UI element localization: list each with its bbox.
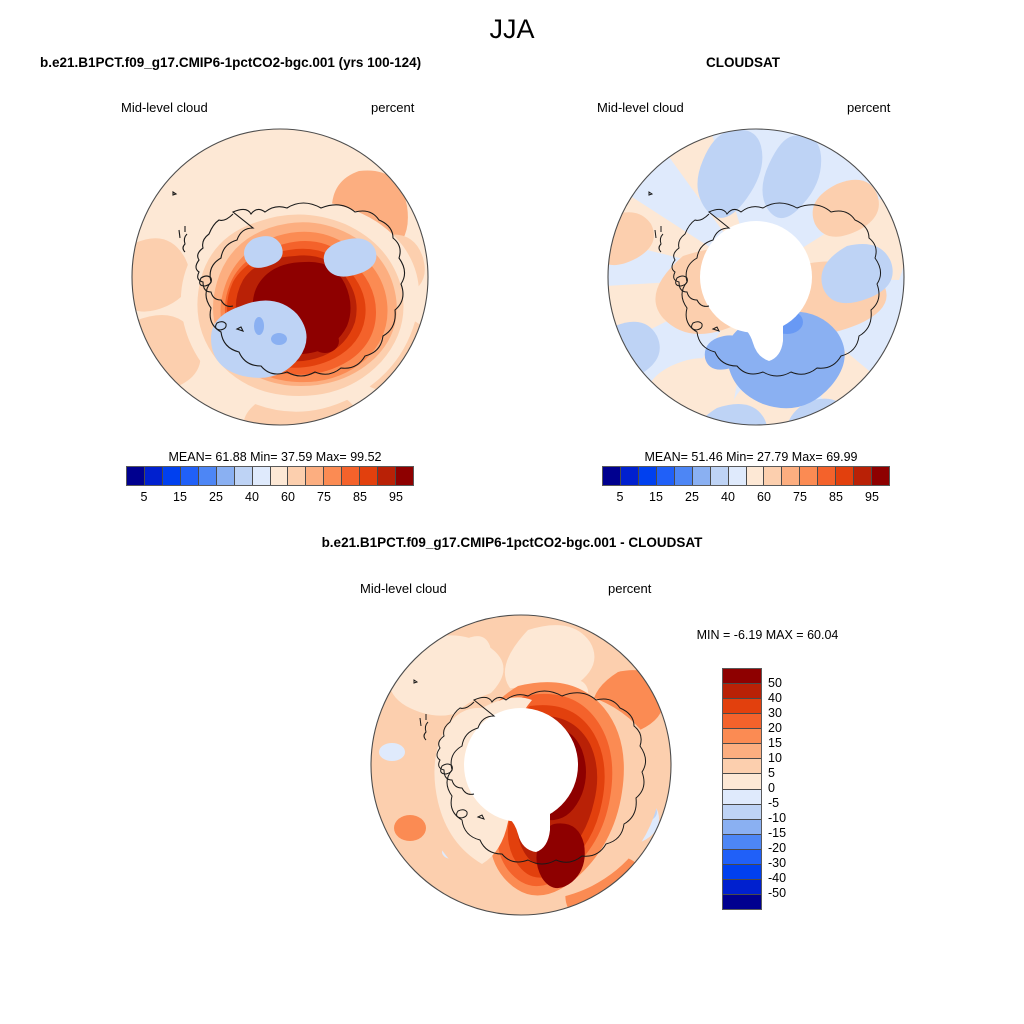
colorbar-cell: [723, 729, 761, 744]
obs-map-svg: [605, 126, 907, 428]
colorbar-cell: [324, 467, 342, 485]
diff-stats-line: MIN = -6.19 MAX = 60.04: [660, 628, 875, 642]
colorbar-cell: [711, 467, 729, 485]
obs-stats-line: MEAN= 51.46 Min= 27.79 Max= 69.99: [591, 450, 911, 464]
colorbar-cell: [723, 714, 761, 729]
colorbar-cell: [657, 467, 675, 485]
colorbar-tick-label: -30: [768, 856, 786, 870]
colorbar-cell: [639, 467, 657, 485]
colorbar-tick-label: -50: [768, 886, 786, 900]
diff-map-svg: [368, 612, 674, 918]
colorbar-tick-label: 15: [649, 490, 663, 504]
colorbar-tick-label: 10: [768, 751, 782, 765]
colorbar-tick-label: 25: [209, 490, 223, 504]
colorbar-cell: [396, 467, 413, 485]
model-map-svg: [129, 126, 431, 428]
model-colorbar-tick-labels: 515254060758595: [126, 490, 414, 508]
colorbar-cell: [747, 467, 765, 485]
obs-variable-label: Mid-level cloud: [597, 100, 684, 115]
diff-units-label: percent: [608, 581, 651, 596]
colorbar-cell: [723, 744, 761, 759]
colorbar-cell: [872, 467, 889, 485]
colorbar-tick-label: 25: [685, 490, 699, 504]
colorbar-tick-label: 15: [173, 490, 187, 504]
obs-colorbar-cells[interactable]: [602, 466, 890, 486]
colorbar-tick-label: 20: [768, 721, 782, 735]
colorbar-cell: [723, 865, 761, 880]
colorbar-cell: [723, 684, 761, 699]
colorbar-cell: [145, 467, 163, 485]
diff-variable-label: Mid-level cloud: [360, 581, 447, 596]
diff-panel-title: b.e21.B1PCT.f09_g17.CMIP6-1pctCO2-bgc.00…: [0, 535, 1024, 550]
colorbar-tick-label: -5: [768, 796, 779, 810]
colorbar-tick-label: -20: [768, 841, 786, 855]
colorbar-cell: [723, 669, 761, 684]
diff-polar-map: [368, 612, 674, 918]
colorbar-cell: [621, 467, 639, 485]
colorbar-tick-label: 50: [768, 676, 782, 690]
colorbar-tick-label: 30: [768, 706, 782, 720]
colorbar-cell: [723, 835, 761, 850]
colorbar-tick-label: -10: [768, 811, 786, 825]
colorbar-tick-label: 75: [317, 490, 331, 504]
colorbar-cell: [342, 467, 360, 485]
colorbar-cell: [675, 467, 693, 485]
colorbar-tick-label: 85: [353, 490, 367, 504]
colorbar-cell: [127, 467, 145, 485]
diff-colorbar-cells[interactable]: [722, 668, 762, 910]
colorbar-cell: [729, 467, 747, 485]
colorbar-cell: [378, 467, 396, 485]
diff-polar-data-hole: [464, 708, 578, 822]
colorbar-cell: [217, 467, 235, 485]
colorbar-tick-label: 60: [281, 490, 295, 504]
colorbar-cell: [800, 467, 818, 485]
colorbar-tick-label: 0: [768, 781, 775, 795]
colorbar-cell: [603, 467, 621, 485]
figure-season-title: JJA: [0, 14, 1024, 45]
colorbar-tick-label: 95: [865, 490, 879, 504]
colorbar-tick-label: 40: [768, 691, 782, 705]
obs-colorbar[interactable]: 515254060758595: [602, 466, 890, 508]
colorbar-cell: [764, 467, 782, 485]
colorbar-cell: [288, 467, 306, 485]
colorbar-cell: [271, 467, 289, 485]
colorbar-tick-label: 40: [721, 490, 735, 504]
colorbar-tick-label: 40: [245, 490, 259, 504]
colorbar-cell: [723, 790, 761, 805]
colorbar-cell: [199, 467, 217, 485]
colorbar-cell: [723, 880, 761, 895]
colorbar-tick-label: 60: [757, 490, 771, 504]
colorbar-cell: [723, 895, 761, 909]
obs-polar-map: [605, 126, 907, 428]
colorbar-cell: [723, 774, 761, 789]
model-variable-label: Mid-level cloud: [121, 100, 208, 115]
colorbar-tick-label: 85: [829, 490, 843, 504]
model-units-label: percent: [371, 100, 414, 115]
model-polar-map: [129, 126, 431, 428]
colorbar-cell: [306, 467, 324, 485]
colorbar-tick-label: 75: [793, 490, 807, 504]
colorbar-cell: [360, 467, 378, 485]
obs-panel-title: CLOUDSAT: [706, 55, 780, 70]
colorbar-tick-label: 15: [768, 736, 782, 750]
model-colorbar[interactable]: 515254060758595: [126, 466, 414, 508]
colorbar-tick-label: -15: [768, 826, 786, 840]
colorbar-cell: [723, 759, 761, 774]
diff-colorbar[interactable]: 50403020151050-5-10-15-20-30-40-50: [722, 668, 842, 908]
obs-polar-data-hole: [700, 221, 812, 333]
colorbar-cell: [693, 467, 711, 485]
diff-colorbar-tick-labels: 50403020151050-5-10-15-20-30-40-50: [768, 668, 828, 908]
model-stats-line: MEAN= 61.88 Min= 37.59 Max= 99.52: [115, 450, 435, 464]
colorbar-cell: [818, 467, 836, 485]
colorbar-cell: [235, 467, 253, 485]
colorbar-tick-label: 95: [389, 490, 403, 504]
colorbar-cell: [723, 699, 761, 714]
colorbar-cell: [782, 467, 800, 485]
colorbar-cell: [723, 850, 761, 865]
colorbar-tick-label: 5: [141, 490, 148, 504]
colorbar-cell: [181, 467, 199, 485]
colorbar-tick-label: 5: [617, 490, 624, 504]
colorbar-cell: [836, 467, 854, 485]
colorbar-tick-label: -40: [768, 871, 786, 885]
obs-colorbar-tick-labels: 515254060758595: [602, 490, 890, 508]
colorbar-cell: [723, 805, 761, 820]
colorbar-cell: [854, 467, 872, 485]
colorbar-cell: [253, 467, 271, 485]
colorbar-cell: [163, 467, 181, 485]
model-panel-title: b.e21.B1PCT.f09_g17.CMIP6-1pctCO2-bgc.00…: [40, 55, 421, 70]
colorbar-cell: [723, 820, 761, 835]
colorbar-tick-label: 5: [768, 766, 775, 780]
model-colorbar-cells[interactable]: [126, 466, 414, 486]
obs-units-label: percent: [847, 100, 890, 115]
